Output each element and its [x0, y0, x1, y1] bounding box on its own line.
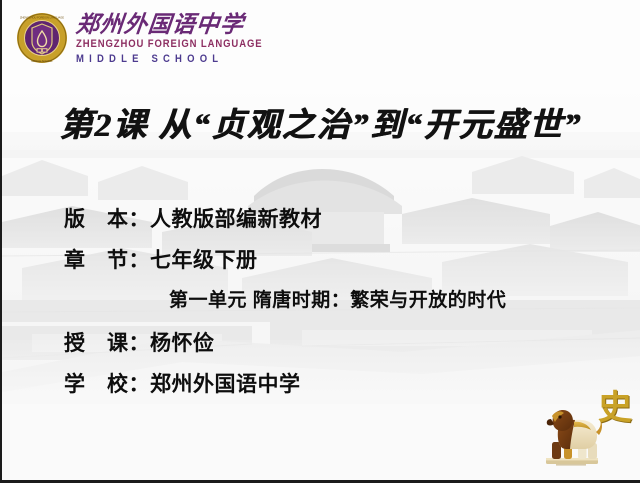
- info-label-version: 版 本：: [64, 203, 150, 233]
- info-label-chapter: 章 节：: [64, 244, 150, 274]
- info-row-unit: 第一单元 隋唐时期：繁荣与开放的时代: [64, 285, 506, 327]
- history-character: 史: [598, 392, 632, 426]
- info-value-chapter: 七年级下册: [150, 244, 258, 274]
- school-seal-icon: ZHENGZHOU FOREIGN LANGUAGE MIDDLE SCHOOL: [16, 12, 68, 64]
- info-row-version: 版 本： 人教版部编新教材: [64, 203, 506, 244]
- history-emblem: 史: [542, 394, 634, 468]
- lesson-title: 第2课 从“贞观之治”到“开元盛世”: [2, 98, 640, 146]
- info-value-version: 人教版部编新教材: [150, 203, 322, 233]
- info-label-teacher: 授 课：: [64, 327, 150, 357]
- info-value-teacher: 杨怀俭: [150, 327, 215, 357]
- school-name-cn: 郑州外国语中学: [75, 13, 264, 36]
- svg-text:ZHENGZHOU FOREIGN LANGUAGE: ZHENGZHOU FOREIGN LANGUAGE: [20, 15, 64, 19]
- school-logo: ZHENGZHOU FOREIGN LANGUAGE MIDDLE SCHOOL…: [16, 12, 262, 64]
- school-logo-text: 郑州外国语中学 ZHENGZHOU FOREIGN LANGUAGE MIDDL…: [76, 13, 262, 63]
- info-row-teacher: 授 课： 杨怀俭: [64, 327, 506, 368]
- svg-text:MIDDLE SCHOOL: MIDDLE SCHOOL: [31, 59, 53, 63]
- lesson-info-list: 版 本： 人教版部编新教材 章 节： 七年级下册 第一单元 隋唐时期：繁荣与开放…: [64, 203, 506, 409]
- school-name-en-line2: MIDDLE SCHOOL: [76, 54, 262, 65]
- school-name-en-line1: ZHENGZHOU FOREIGN LANGUAGE: [76, 39, 262, 50]
- info-value-school: 郑州外国语中学: [150, 368, 301, 398]
- info-value-unit: 第一单元 隋唐时期：繁荣与开放的时代: [169, 285, 506, 312]
- lesson-title-slide: ZHENGZHOU FOREIGN LANGUAGE MIDDLE SCHOOL…: [0, 0, 640, 483]
- info-label-school: 学 校：: [64, 368, 150, 398]
- info-row-school: 学 校： 郑州外国语中学: [64, 368, 506, 409]
- info-row-chapter: 章 节： 七年级下册: [64, 244, 506, 285]
